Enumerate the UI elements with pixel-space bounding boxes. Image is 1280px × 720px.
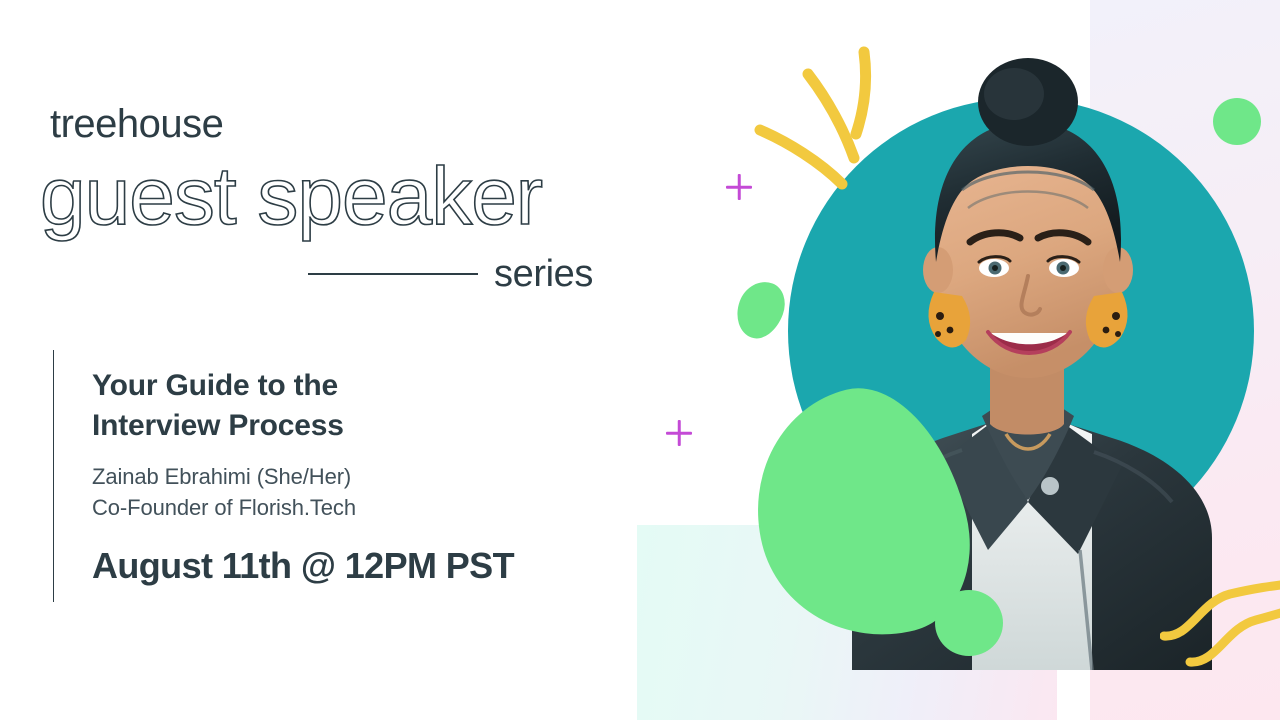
squiggle-lines-icon: [1160, 580, 1280, 680]
event-datetime: August 11th @ 12PM PST: [92, 546, 613, 586]
series-divider-rule: [308, 273, 478, 275]
talk-title-line-1: Your Guide to the: [92, 366, 613, 406]
promo-slide: treehouse guest speaker series Your Guid…: [0, 0, 1280, 720]
series-subline: series: [308, 252, 628, 296]
text-column: treehouse guest speaker series Your Guid…: [0, 0, 700, 720]
event-details: Your Guide to the Interview Process Zain…: [53, 350, 613, 602]
plus-mark-upper-icon: [726, 174, 752, 200]
green-pill-shape: [729, 275, 791, 345]
series-headline: guest speaker: [40, 156, 542, 238]
series-word: series: [494, 255, 593, 293]
talk-title: Your Guide to the Interview Process: [92, 366, 613, 445]
sparkle-burst-icon: [748, 38, 918, 208]
green-circle-bottom: [935, 590, 1003, 656]
speaker-role: Co-Founder of Florish.Tech: [92, 492, 613, 523]
talk-title-line-2: Interview Process: [92, 406, 613, 446]
green-circle-right: [1213, 98, 1261, 145]
speaker-name: Zainab Ebrahimi (She/Her): [92, 461, 613, 492]
brand-name: treehouse: [50, 104, 223, 144]
